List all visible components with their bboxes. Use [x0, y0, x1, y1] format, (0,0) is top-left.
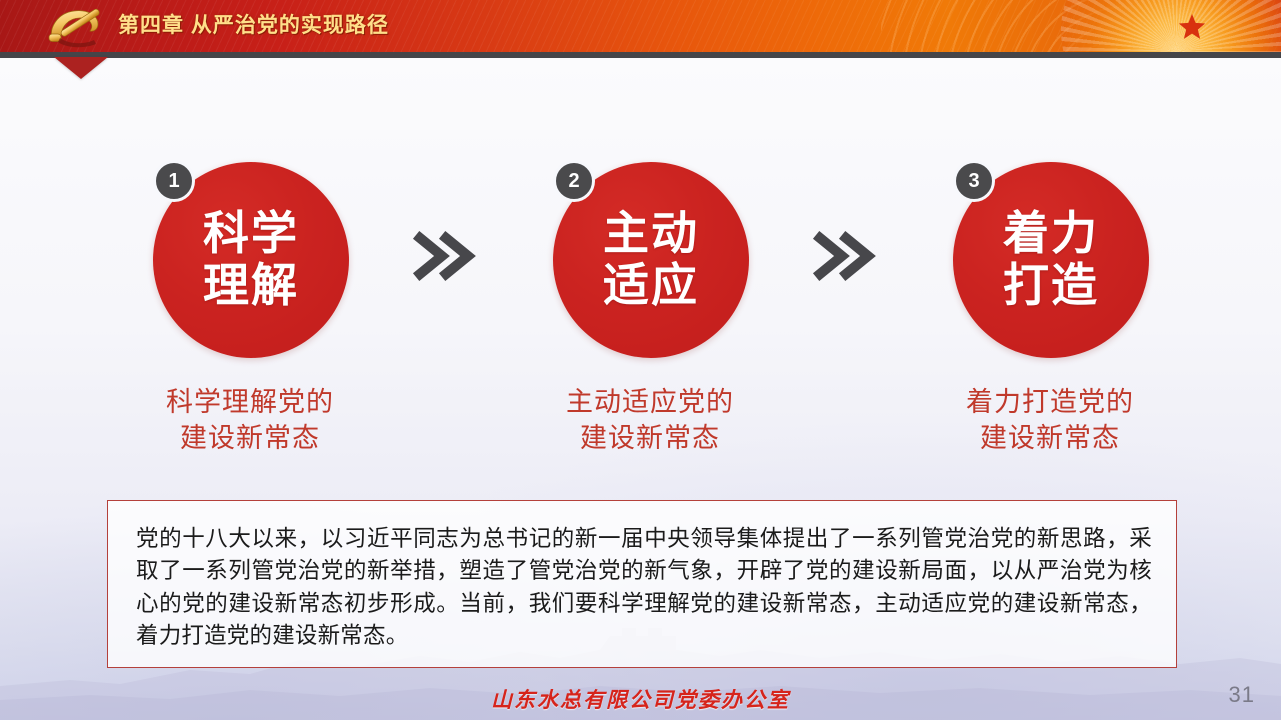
slide-canvas: 第四章 从严治党的实现路径 科学 理解 1 主动 适应 — [0, 0, 1281, 720]
flow-caption-3: 着力打造党的 建设新常态 — [900, 385, 1200, 457]
flow-caption-2-line2: 建设新常态 — [500, 421, 800, 457]
flow-badge-3: 3 — [953, 160, 995, 202]
red-star-icon — [1177, 12, 1207, 42]
body-paragraph: 党的十八大以来，以习近平同志为总书记的新一届中央领导集体提出了一系列管党治党的新… — [136, 523, 1152, 653]
header-sunburst-decoration — [1061, 0, 1281, 52]
flow-circle-1-line1: 科学 — [203, 208, 299, 260]
flow-caption-1-line2: 建设新常态 — [100, 421, 400, 457]
header-title: 第四章 从严治党的实现路径 — [118, 0, 389, 52]
flow-circle-3-line1: 着力 — [1003, 208, 1099, 260]
flow-circle-3-text: 着力 打造 — [1003, 208, 1099, 311]
flow-circle-1-line2: 理解 — [203, 260, 299, 312]
footer-organization-name: 山东水总有限公司党委办公室 — [0, 684, 1281, 714]
header-underline-bar — [0, 52, 1281, 58]
flow-badge-1: 1 — [153, 160, 195, 202]
flow-badge-2: 2 — [553, 160, 595, 202]
flow-caption-1-line1: 科学理解党的 — [100, 385, 400, 421]
flow-caption-2: 主动适应党的 建设新常态 — [500, 385, 800, 457]
flow-node-1[interactable]: 科学 理解 1 — [145, 150, 355, 360]
flow-connector-2-double-chevron-right-icon — [812, 228, 882, 284]
header-ribbon-tail-decoration — [54, 57, 108, 79]
flow-circle-3-line2: 打造 — [1003, 260, 1099, 312]
flow-caption-3-line1: 着力打造党的 — [900, 385, 1200, 421]
flow-circle-2-line1: 主动 — [603, 208, 699, 260]
process-flow-diagram: 科学 理解 1 主动 适应 2 — [0, 150, 1281, 380]
slide-header-bar: 第四章 从严治党的实现路径 — [0, 0, 1281, 52]
flow-circle-1-text: 科学 理解 — [203, 208, 299, 311]
flow-node-2[interactable]: 主动 适应 2 — [545, 150, 755, 360]
hammer-sickle-emblem-icon — [36, 4, 114, 49]
flow-circle-2-text: 主动 适应 — [603, 208, 699, 311]
flow-caption-2-line1: 主动适应党的 — [500, 385, 800, 421]
flow-connector-1-double-chevron-right-icon — [412, 228, 482, 284]
page-number: 31 — [1229, 682, 1255, 708]
flow-node-3[interactable]: 着力 打造 3 — [945, 150, 1155, 360]
body-text-box: 党的十八大以来，以习近平同志为总书记的新一届中央领导集体提出了一系列管党治党的新… — [107, 500, 1177, 668]
flow-caption-1: 科学理解党的 建设新常态 — [100, 385, 400, 457]
flow-circle-2-line2: 适应 — [603, 260, 699, 312]
flow-caption-3-line2: 建设新常态 — [900, 421, 1200, 457]
